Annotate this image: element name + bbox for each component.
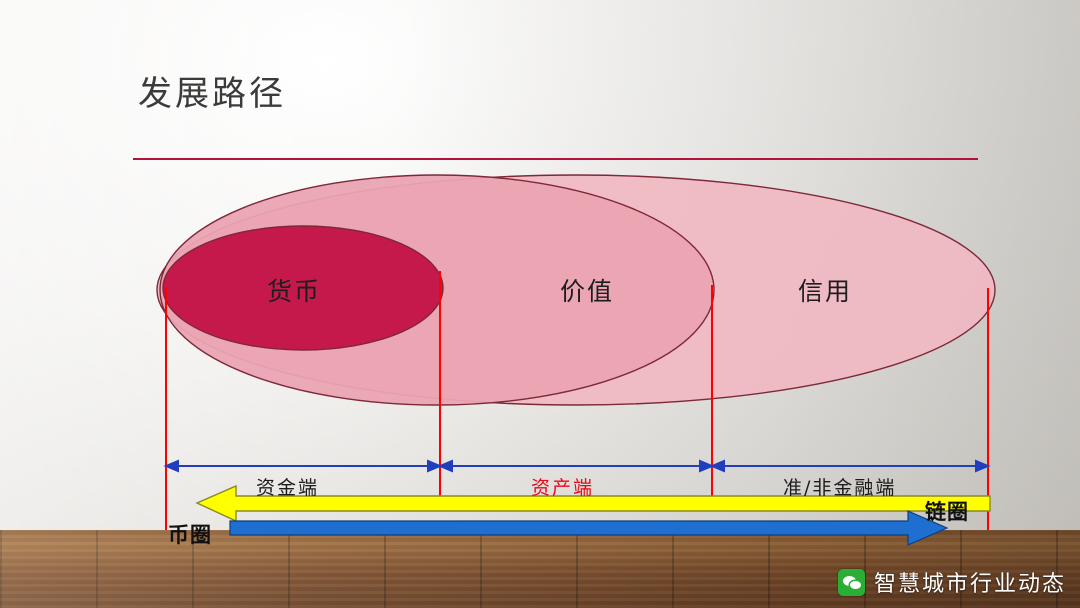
wechat-icon <box>838 569 865 596</box>
ellipse-label-middle: 价值 <box>560 272 614 308</box>
ellipse-label-outer: 信用 <box>798 272 852 308</box>
ellipse-label-inner: 货币 <box>267 272 321 308</box>
range-label-capital: 资金端 <box>256 473 319 500</box>
slide-canvas: 发展路径 货币 <box>0 0 1080 608</box>
range-arrow-1 <box>166 461 440 471</box>
range-label-quasi: 准/非金融端 <box>783 473 896 500</box>
bar-label-chain-circle: 链圈 <box>925 496 969 526</box>
range-arrow-2 <box>440 461 712 471</box>
range-arrow-3 <box>712 461 988 471</box>
watermark-text: 智慧城市行业动态 <box>874 566 1066 598</box>
diagram-svg <box>0 0 1080 608</box>
watermark: 智慧城市行业动态 <box>838 566 1066 598</box>
bar-label-coin-circle: 币圈 <box>168 519 212 549</box>
range-label-asset: 资产端 <box>531 473 594 500</box>
blue-bar <box>230 511 947 545</box>
